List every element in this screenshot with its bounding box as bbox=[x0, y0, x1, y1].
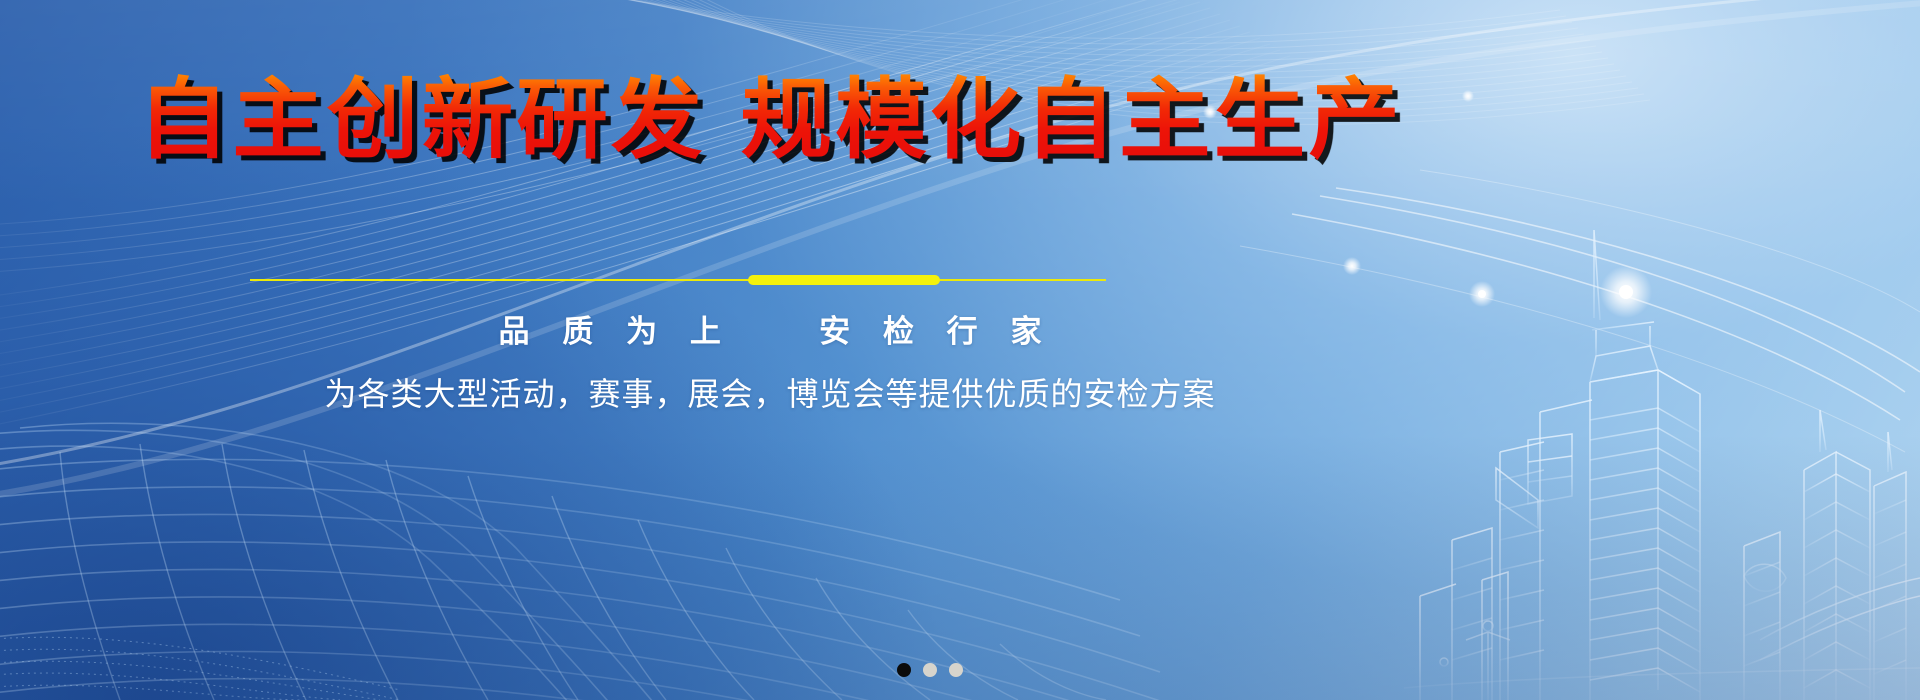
carousel-dot-2[interactable] bbox=[923, 663, 937, 677]
subtitle-container: 品 质 为 上 安 检 行 家 为各类大型活动，赛事，展会，博览会等提供优质的安… bbox=[0, 306, 1540, 415]
carousel-dot-3[interactable] bbox=[949, 663, 963, 677]
divider-accent-bar bbox=[748, 275, 940, 285]
subtitle-secondary: 为各类大型活动，赛事，展会，博览会等提供优质的安检方案 bbox=[0, 369, 1540, 415]
divider-hairline bbox=[250, 279, 1106, 281]
carousel-dot-1[interactable] bbox=[897, 663, 911, 677]
carousel-dots[interactable] bbox=[0, 663, 1860, 677]
hero-banner: 自主创新研发 规模化自主生产 品 质 为 上 安 检 行 家 为各类大型活动，赛… bbox=[0, 0, 1920, 700]
title-container: 自主创新研发 规模化自主生产 bbox=[0, 72, 1540, 167]
divider bbox=[250, 274, 1106, 286]
subtitle-primary: 品 质 为 上 安 检 行 家 bbox=[0, 306, 1540, 351]
page-title: 自主创新研发 规模化自主生产 bbox=[137, 72, 1402, 167]
